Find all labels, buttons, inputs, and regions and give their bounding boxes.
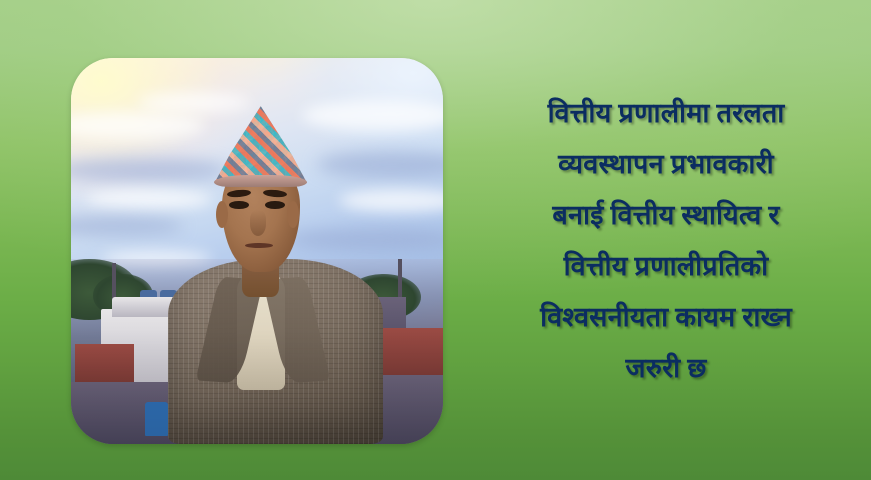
headline-line-2: व्यवस्थापन प्रभावकारी: [466, 139, 866, 190]
headline-line-6: जरुरी छ: [466, 343, 866, 394]
photo-vignette: [71, 58, 443, 444]
headline-line-4: वित्तीय प्रणालीप्रतिको: [466, 241, 866, 292]
headline-line-5: विश्वसनीयता कायम राख्न: [466, 292, 866, 343]
nepali-headline: वित्तीय प्रणालीमा तरलता व्यवस्थापन प्रभा…: [466, 88, 866, 394]
portrait-photo-card: [71, 58, 443, 444]
poster-canvas: वित्तीय प्रणालीमा तरलता व्यवस्थापन प्रभा…: [0, 0, 871, 480]
headline-line-3: बनाई वित्तीय स्थायित्व र: [466, 190, 866, 241]
headline-line-1: वित्तीय प्रणालीमा तरलता: [466, 88, 866, 139]
